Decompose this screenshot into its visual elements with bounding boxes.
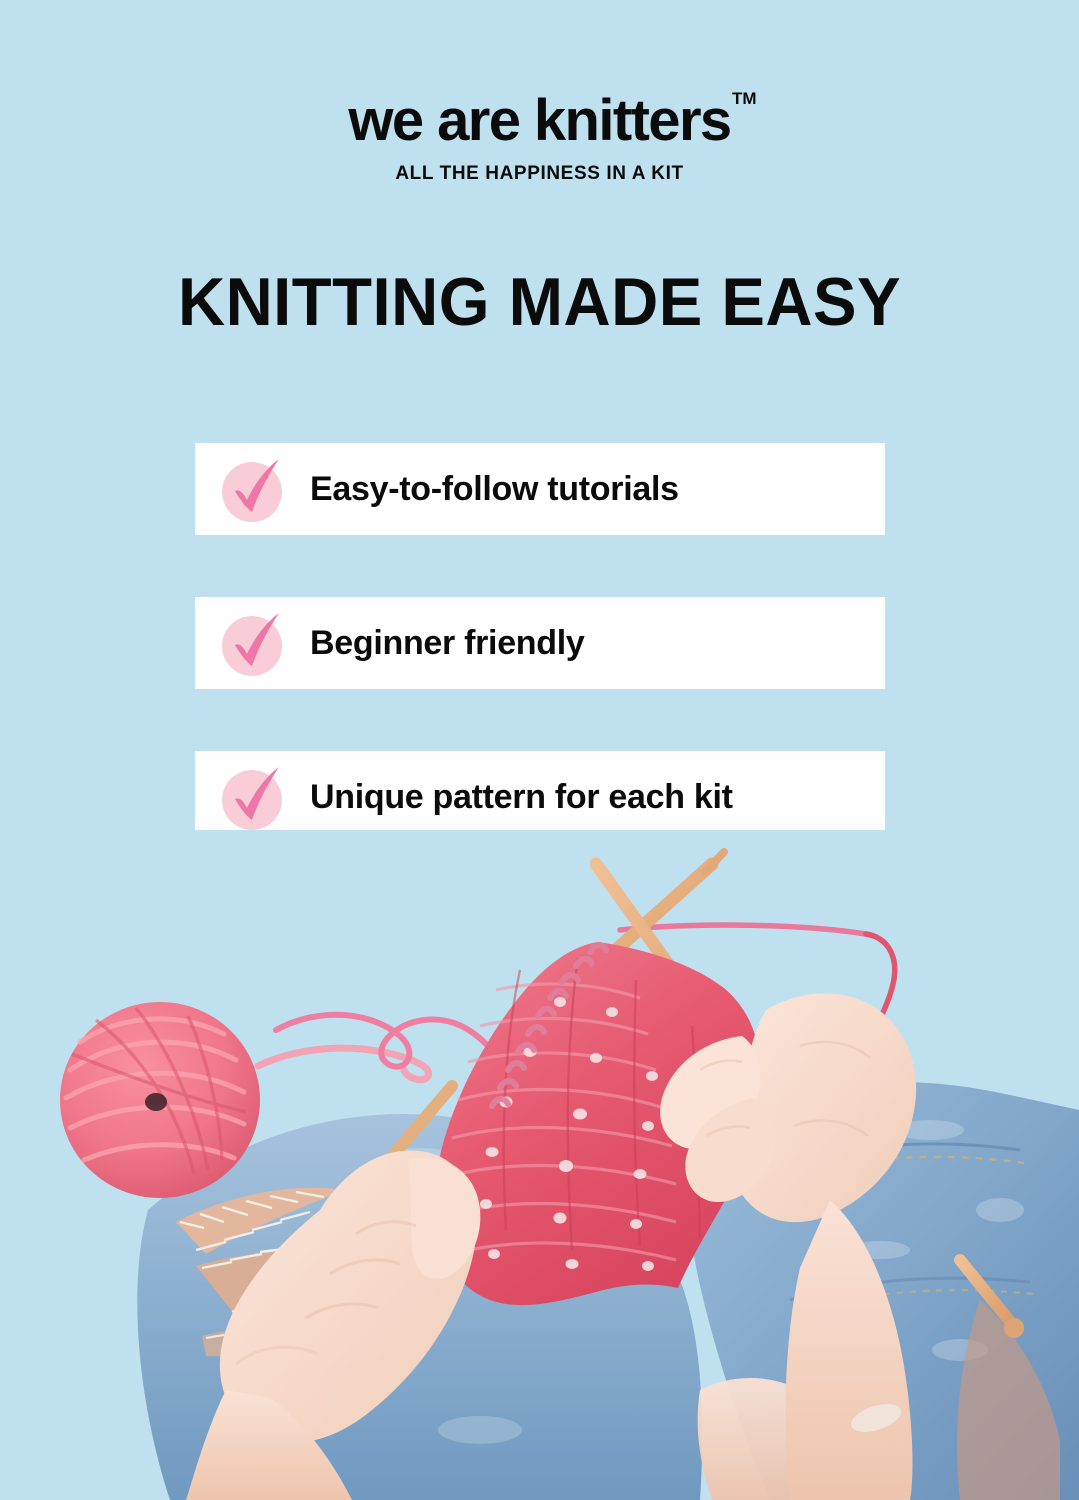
check-icon-glyph — [222, 610, 288, 676]
brand-wordmark-text: we are knitters — [348, 88, 730, 153]
knitting-photo — [0, 830, 1079, 1500]
check-icon — [222, 456, 288, 522]
feature-label: Unique pattern for each kit — [310, 778, 733, 817]
brand-tagline: ALL THE HAPPINESS IN A KIT — [0, 163, 1079, 185]
check-icon-glyph — [222, 764, 288, 830]
knitting-photo-illustration — [0, 830, 1079, 1500]
feature-label: Easy-to-follow tutorials — [310, 470, 679, 509]
feature-card-2: Beginner friendly — [195, 597, 885, 689]
trademark-symbol: TM — [732, 90, 757, 107]
brand-header: we are knittersTM ALL THE HAPPINESS IN A… — [0, 92, 1079, 185]
check-icon — [222, 610, 288, 676]
yarn-ball — [60, 1002, 260, 1198]
feature-card-1: Easy-to-follow tutorials — [195, 443, 885, 535]
check-icon — [222, 764, 288, 830]
brand-wordmark: we are knittersTM — [348, 92, 730, 150]
page-title: KNITTING MADE EASY — [22, 268, 1058, 336]
check-icon-glyph — [222, 456, 288, 522]
feature-label: Beginner friendly — [310, 624, 585, 663]
poster-canvas: we are knittersTM ALL THE HAPPINESS IN A… — [0, 0, 1079, 1500]
